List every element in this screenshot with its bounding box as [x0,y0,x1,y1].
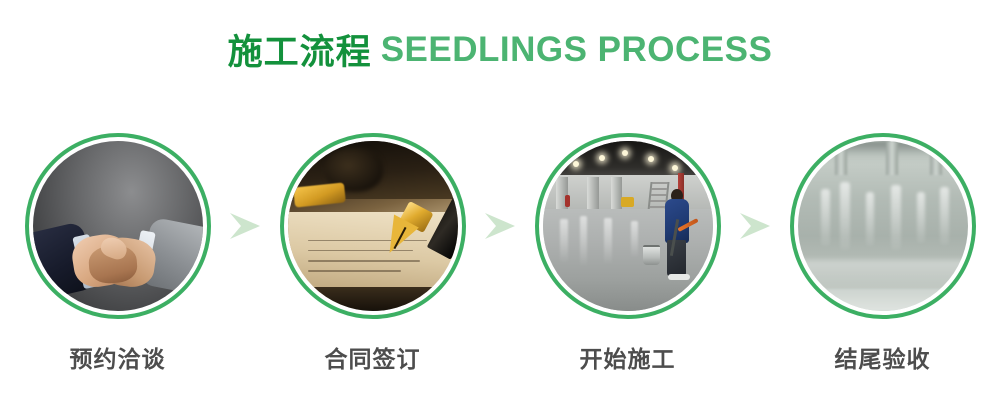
handshake-photo [33,141,203,311]
step-1-circle-badge[interactable] [25,133,211,319]
contract-signing-photo [288,141,458,311]
page-title-chinese: 施工流程 [228,33,372,72]
chevron-right-icon [738,211,772,241]
chevron-right-icon [483,211,517,241]
process-step-3[interactable]: 开始施工 [535,133,721,371]
page-title: 施工流程SEEDLINGS PROCESS [0,24,1000,75]
floor-coating-worker-photo [543,141,713,311]
step-3-caption: 开始施工 [580,348,676,371]
finished-epoxy-floor-photo [798,141,968,311]
process-arrow-3 [721,133,790,319]
process-arrow-2 [466,133,535,319]
process-arrow-1 [211,133,280,319]
step-4-caption: 结尾验收 [835,348,931,371]
step-2-circle-badge[interactable] [280,133,466,319]
page-title-english: SEEDLINGS PROCESS [381,30,773,69]
step-4-circle-badge[interactable] [790,133,976,319]
process-step-1[interactable]: 预约洽谈 [25,133,211,371]
step-3-circle-badge[interactable] [535,133,721,319]
process-flow: 预约洽谈 [0,133,1000,393]
chevron-right-icon [228,211,262,241]
process-step-2[interactable]: 合同签订 [280,133,466,371]
step-2-caption: 合同签订 [325,348,421,371]
step-1-caption: 预约洽谈 [70,348,166,371]
process-step-4[interactable]: 结尾验收 [790,133,976,371]
